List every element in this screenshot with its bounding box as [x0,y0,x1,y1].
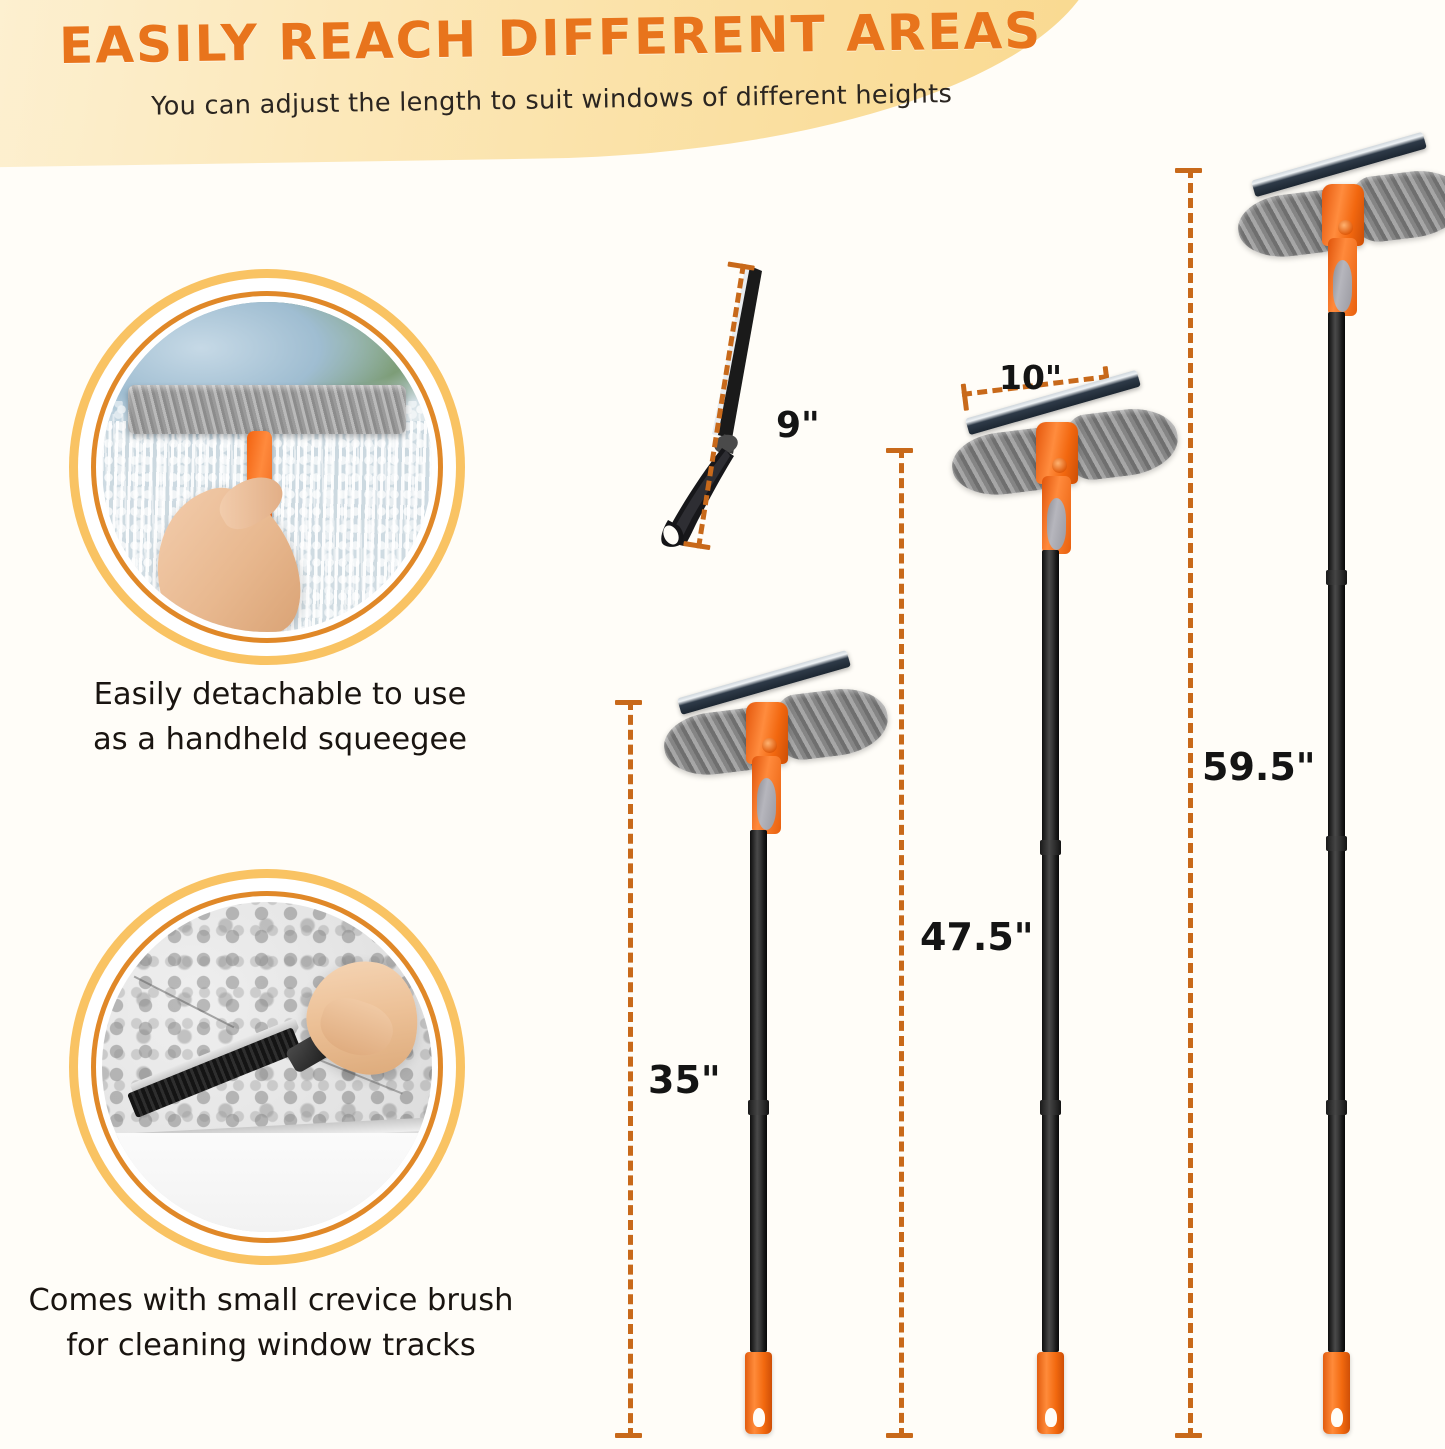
dimension-cap-bottom [886,1433,913,1438]
caption-line-1: Easily detachable to use [0,672,560,717]
pole-joint-lower [1326,1100,1347,1115]
dimension-label-47-5in: 47.5" [920,915,1034,959]
pole-joint-upper [1326,570,1347,585]
feature-inset-detachable-squeegee [102,302,432,632]
head-pivot [1052,458,1067,473]
dimension-cap-bottom [615,1433,642,1438]
caption-line-2: for cleaning window tracks [0,1323,551,1368]
squeegee-head-short [658,660,888,830]
pole-shaft-medium [1042,550,1059,1352]
pole-end-cap [1037,1352,1064,1434]
head-yoke [746,702,788,764]
squeegee-head-medium [946,378,1178,550]
head-pivot [1338,220,1353,235]
dimension-label-59-5in: 59.5" [1202,745,1316,789]
pole-end-cap [745,1352,772,1434]
feature-inset-crevice-brush [102,902,432,1232]
pole-end-cap [1323,1352,1350,1434]
dimension-pole-short-line [628,700,633,1438]
caption-detachable-squeegee: Easily detachable to use as a handheld s… [0,672,560,762]
caption-line-1: Comes with small crevice brush [0,1278,551,1323]
pole-joint-lower [1040,1100,1061,1115]
head-yoke [1322,184,1364,246]
squeegee-head-long [1232,140,1445,312]
dimension-cap-top [1175,168,1202,173]
pole-shaft-long [1328,312,1345,1352]
pole-joint-mid [1326,836,1347,851]
hanging-hole [1045,1408,1057,1427]
pole-joint [748,1100,769,1115]
inset-image-wet-window [102,302,432,632]
microfiber-mop-head [128,385,405,435]
infographic-page: EASILY REACH DIFFERENT AREAS You can adj… [0,0,1445,1449]
dimension-cap-bottom [1175,1433,1202,1438]
dimension-pole-medium-line [899,448,904,1438]
head-grip-pad [1047,498,1066,550]
dimension-label-35in: 35" [648,1058,721,1102]
caption-crevice-brush: Comes with small crevice brush for clean… [0,1278,551,1368]
dimension-label-9in: 9" [776,405,820,446]
hanging-hole [1331,1408,1343,1427]
hanging-hole [753,1408,765,1427]
head-grip-pad [1333,260,1352,312]
dimension-cap-top [886,448,913,453]
head-pivot [762,738,777,753]
pole-shaft-short [750,830,767,1352]
caption-line-2: as a handheld squeegee [0,717,560,762]
pole-joint-upper [1040,840,1061,855]
head-grip-pad [757,778,776,830]
header-text-group: EASILY REACH DIFFERENT AREAS You can adj… [0,0,1102,124]
dimension-cap-top [615,700,642,705]
mop-pad-right [1350,166,1445,245]
floor-surface [102,1133,432,1232]
dimension-pole-long-line [1188,168,1193,1438]
mop-pad-right [1064,404,1181,483]
inset-image-window-track [102,902,432,1232]
head-yoke [1036,422,1078,484]
mop-pad-right [774,684,891,763]
page-title: EASILY REACH DIFFERENT AREAS [0,1,1101,76]
